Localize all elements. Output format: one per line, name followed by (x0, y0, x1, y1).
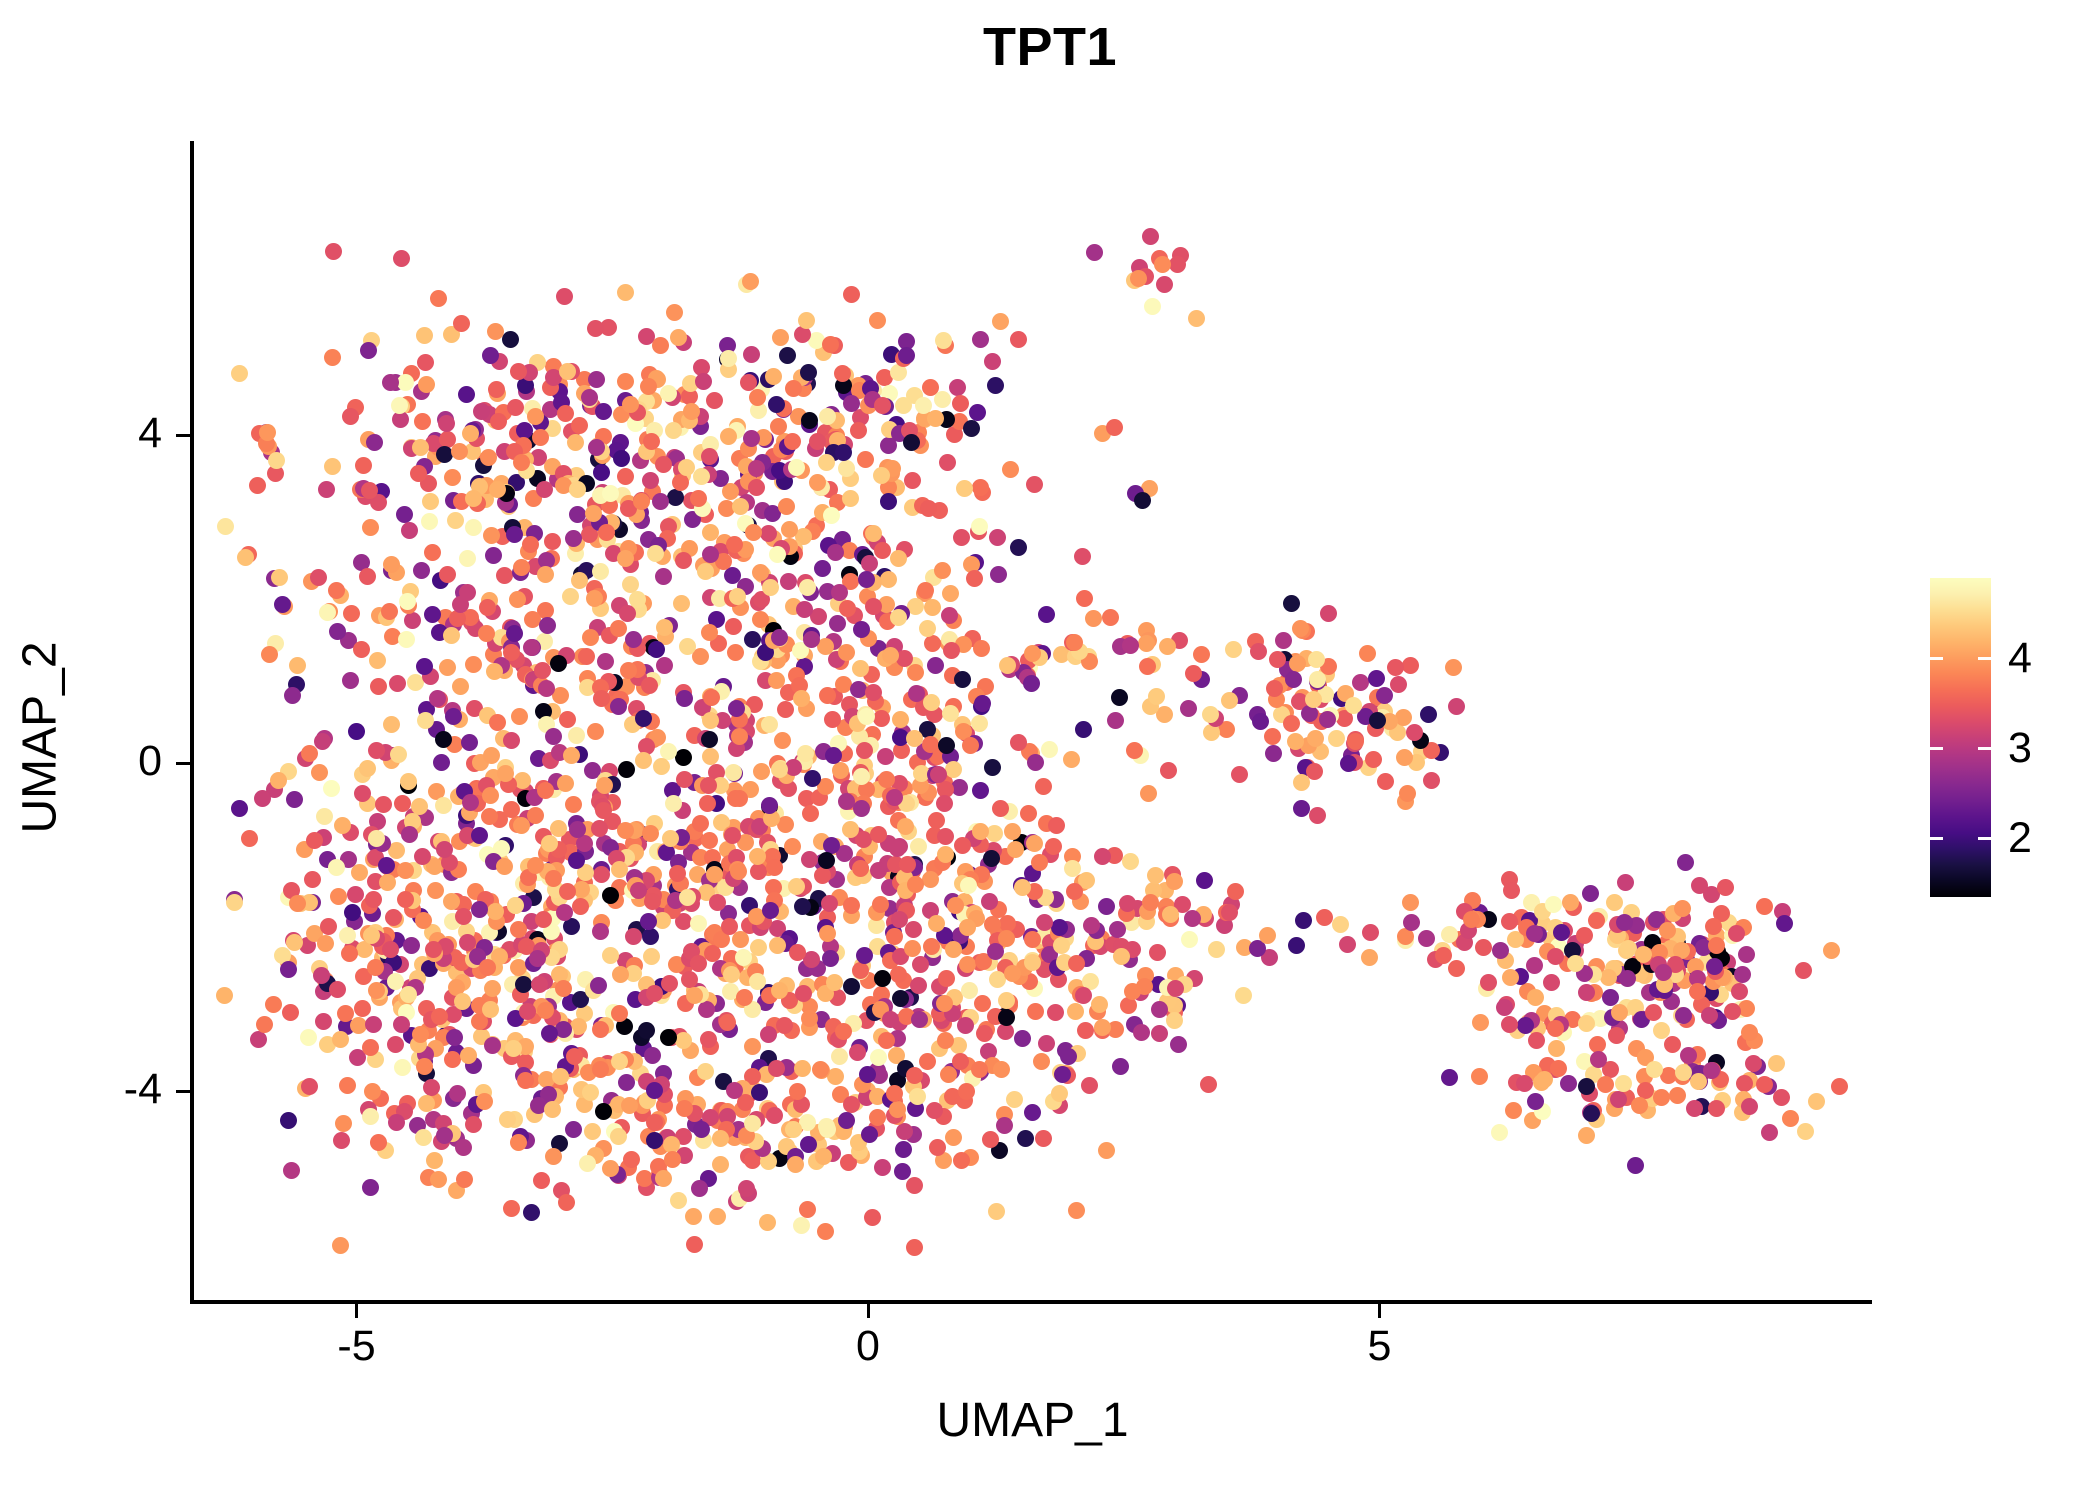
scatter-point (324, 349, 341, 366)
scatter-point (301, 745, 318, 762)
scatter-point (539, 617, 556, 634)
scatter-point (354, 1000, 371, 1017)
scatter-point (906, 1067, 923, 1084)
scatter-point (1221, 904, 1238, 921)
scatter-point (906, 730, 923, 747)
scatter-point (670, 329, 687, 346)
scatter-point (1283, 595, 1300, 612)
scatter-point (861, 555, 878, 572)
scatter-point (910, 977, 927, 994)
scatter-point (960, 877, 977, 894)
scatter-point (990, 566, 1007, 583)
scatter-point (1014, 1030, 1031, 1047)
scatter-point (259, 424, 276, 441)
scatter-point (462, 794, 479, 811)
scatter-point (1664, 1036, 1681, 1053)
scatter-point (638, 1022, 655, 1039)
scatter-point (559, 363, 576, 380)
scatter-point (942, 705, 959, 722)
scatter-point (652, 337, 669, 354)
scatter-point (1200, 1076, 1217, 1093)
scatter-point (998, 930, 1015, 947)
scatter-point (1717, 879, 1734, 896)
scatter-point (503, 1200, 520, 1217)
scatter-point (823, 507, 840, 524)
scatter-point (1147, 867, 1164, 884)
scatter-point (1151, 1001, 1168, 1018)
scatter-point (765, 368, 782, 385)
scatter-point (974, 995, 991, 1012)
scatter-point (354, 785, 371, 802)
scatter-point (537, 566, 554, 583)
scatter-point (1225, 641, 1242, 658)
scatter-point (789, 1083, 806, 1100)
scatter-point (347, 886, 364, 903)
scatter-point (917, 582, 934, 599)
scatter-point (510, 363, 527, 380)
scatter-point (843, 897, 860, 914)
scatter-point (280, 1112, 297, 1129)
scatter-point (362, 1039, 379, 1056)
scatter-point (566, 1048, 583, 1065)
scatter-point (283, 1162, 300, 1179)
scatter-point (720, 428, 737, 445)
scatter-point (942, 585, 959, 602)
scatter-point (557, 405, 574, 422)
scatter-point (381, 603, 398, 620)
scatter-point (1615, 1075, 1632, 1092)
scatter-point (1582, 885, 1599, 902)
scatter-point (1265, 745, 1282, 762)
scatter-point (1111, 689, 1128, 706)
scatter-point (390, 746, 407, 763)
scatter-point (938, 737, 955, 754)
scatter-point (397, 374, 414, 391)
scatter-point (315, 1013, 332, 1030)
scatter-point (436, 1127, 453, 1144)
scatter-point (667, 489, 684, 506)
scatter-point (752, 564, 769, 581)
scatter-point (760, 525, 777, 542)
scatter-point (1066, 883, 1083, 900)
scatter-point (1547, 1020, 1564, 1037)
scatter-point (922, 871, 939, 888)
scatter-point (732, 931, 749, 948)
scatter-point (653, 758, 670, 775)
scatter-point (578, 648, 595, 665)
scatter-point (1170, 1036, 1187, 1053)
scatter-point (1600, 969, 1617, 986)
scatter-point (613, 450, 630, 467)
scatter-point (998, 1009, 1015, 1026)
scatter-point (664, 1151, 681, 1168)
scatter-point (424, 544, 441, 561)
scatter-point (1517, 1017, 1534, 1034)
scatter-point (665, 795, 682, 812)
scatter-point (843, 1096, 860, 1113)
scatter-point (785, 1121, 802, 1138)
scatter-point (1472, 1014, 1489, 1031)
scatter-point (641, 677, 658, 694)
scatter-point (675, 552, 692, 569)
scatter-point (800, 364, 817, 381)
scatter-point (1502, 969, 1519, 986)
scatter-point (941, 607, 958, 624)
scatter-point (527, 807, 544, 824)
scatter-point (772, 329, 789, 346)
scatter-point (1188, 310, 1205, 327)
scatter-point (510, 959, 527, 976)
scatter-point (1166, 1012, 1183, 1029)
scatter-point (587, 320, 604, 337)
scatter-point (842, 821, 859, 838)
scatter-point (744, 1038, 761, 1055)
scatter-point (527, 408, 544, 425)
scatter-point (939, 454, 956, 471)
scatter-point (324, 458, 341, 475)
scatter-point (571, 417, 588, 434)
scatter-point (972, 782, 989, 799)
scatter-point (1631, 1097, 1648, 1114)
scatter-point (595, 802, 612, 819)
scatter-point (625, 631, 642, 648)
scatter-point (1124, 983, 1141, 1000)
scatter-point (812, 1061, 829, 1078)
scatter-point (231, 800, 248, 817)
scatter-point (592, 1021, 609, 1038)
scatter-point (1138, 635, 1155, 652)
scatter-point (935, 332, 952, 349)
scatter-point (924, 599, 941, 616)
scatter-point (1167, 980, 1184, 997)
scatter-point (701, 832, 718, 849)
scatter-point (328, 859, 345, 876)
scatter-point (369, 652, 386, 669)
scatter-point (1617, 874, 1634, 891)
scatter-point (438, 415, 455, 432)
colorbar-legend: 432 (1930, 578, 2090, 898)
scatter-point (620, 662, 637, 679)
scatter-point (1293, 774, 1310, 791)
scatter-point (937, 846, 954, 863)
scatter-point (394, 1059, 411, 1076)
scatter-point (569, 481, 586, 498)
scatter-point (966, 570, 983, 587)
scatter-point (568, 727, 585, 744)
scatter-point (1608, 1027, 1625, 1044)
scatter-point (435, 797, 452, 814)
scatter-point (1516, 1075, 1533, 1092)
scatter-point (483, 527, 500, 544)
scatter-point (541, 1025, 558, 1042)
scatter-point (656, 657, 673, 674)
scatter-point (838, 1112, 855, 1129)
scatter-point (1435, 947, 1452, 964)
scatter-point (332, 1237, 349, 1254)
scatter-point (602, 485, 619, 502)
scatter-point (744, 1115, 761, 1132)
scatter-point (853, 800, 870, 817)
scatter-point (801, 851, 818, 868)
scatter-point (1060, 1048, 1077, 1065)
scatter-point (695, 373, 712, 390)
scatter-point (557, 775, 574, 792)
scatter-point (856, 742, 873, 759)
scatter-point (532, 429, 549, 446)
scatter-point (818, 454, 835, 471)
scatter-point (911, 1011, 928, 1028)
scatter-point (897, 818, 914, 835)
scatter-point (412, 1026, 429, 1043)
scatter-point (323, 780, 340, 797)
scatter-point (400, 986, 417, 1003)
scatter-point (788, 459, 805, 476)
scatter-point (1611, 1004, 1628, 1021)
scatter-point (1441, 926, 1458, 943)
scatter-point (702, 748, 719, 765)
scatter-point (286, 791, 303, 808)
scatter-point (761, 797, 778, 814)
scatter-point (325, 243, 342, 260)
scatter-point (418, 1095, 435, 1112)
scatter-point (1578, 984, 1595, 1001)
scatter-point (523, 1204, 540, 1221)
scatter-point (981, 893, 998, 910)
scatter-point (598, 524, 615, 541)
scatter-point (972, 331, 989, 348)
scatter-point (1066, 634, 1083, 651)
scatter-point (721, 918, 738, 935)
scatter-point (310, 569, 327, 586)
scatter-point (329, 623, 346, 640)
scatter-point (1035, 778, 1052, 795)
scatter-point (874, 970, 891, 987)
scatter-point (1548, 1040, 1565, 1057)
scatter-point (835, 1023, 852, 1040)
scatter-point (685, 1208, 702, 1225)
scatter-point (503, 644, 520, 661)
scatter-point (784, 838, 801, 855)
scatter-point (971, 518, 988, 535)
scatter-point (927, 657, 944, 674)
scatter-point (1264, 728, 1281, 745)
scatter-point (1307, 730, 1324, 747)
scatter-point (427, 882, 444, 899)
scatter-point (880, 493, 897, 510)
scatter-point (455, 1139, 472, 1156)
scatter-point (1024, 1104, 1041, 1121)
scatter-point (890, 550, 907, 567)
scatter-point (592, 1061, 609, 1078)
scatter-point (1075, 987, 1092, 1004)
scatter-point (1606, 894, 1623, 911)
scatter-point (1686, 1100, 1703, 1117)
scatter-point (676, 690, 693, 707)
scatter-point (415, 1129, 432, 1146)
scatter-point (617, 284, 634, 301)
scatter-point (398, 631, 415, 648)
y-tick-mark (176, 1090, 190, 1093)
scatter-point (1169, 256, 1186, 273)
scatter-point (635, 752, 652, 769)
scatter-point (465, 519, 482, 536)
scatter-point (270, 772, 287, 789)
scatter-point (1017, 1130, 1034, 1147)
scatter-point (856, 947, 873, 964)
scatter-point (1376, 687, 1393, 704)
scatter-point (874, 397, 891, 414)
scatter-point (700, 777, 717, 794)
scatter-point (1287, 733, 1304, 750)
scatter-point (635, 710, 652, 727)
scatter-point (724, 827, 741, 844)
scatter-point (762, 579, 779, 596)
scatter-point (672, 474, 689, 491)
scatter-point (1134, 492, 1151, 509)
scatter-point (527, 857, 544, 874)
scatter-point (537, 1002, 554, 1019)
scatter-point (430, 1171, 447, 1188)
scatter-point (703, 689, 720, 706)
scatter-point (889, 840, 906, 857)
scatter-point (761, 716, 778, 733)
scatter-point (1221, 692, 1238, 709)
scatter-point (930, 766, 947, 783)
scatter-point (1369, 712, 1386, 729)
scatter-point (579, 1155, 596, 1172)
scatter-point (592, 563, 609, 580)
scatter-point (788, 878, 805, 895)
scatter-point (593, 866, 610, 883)
scatter-point (483, 747, 500, 764)
scatter-point (383, 556, 400, 573)
scatter-point (750, 939, 767, 956)
scatter-point (644, 893, 661, 910)
scatter-point (559, 883, 576, 900)
scatter-point (701, 448, 718, 465)
scatter-point (777, 701, 794, 718)
scatter-point (1235, 987, 1252, 1004)
scatter-point (1026, 476, 1043, 493)
scatter-point (1140, 785, 1157, 802)
figure-root: TPT1 -505 40-4 UMAP_1 UMAP_2 432 (0, 0, 2100, 1500)
scatter-point (729, 588, 746, 605)
scatter-point (311, 764, 328, 781)
scatter-point (1160, 762, 1177, 779)
scatter-point (1122, 637, 1139, 654)
scatter-point (353, 641, 370, 658)
scatter-point (254, 790, 271, 807)
scatter-point (1094, 848, 1111, 865)
scatter-point (1706, 958, 1723, 975)
scatter-point (479, 959, 496, 976)
scatter-point (630, 882, 647, 899)
scatter-point (989, 529, 1006, 546)
scatter-point (531, 976, 548, 993)
scatter-point (473, 403, 490, 420)
scatter-point (567, 434, 584, 451)
scatter-point (824, 711, 841, 728)
scatter-point (1196, 872, 1213, 889)
scatter-point (676, 771, 693, 788)
scatter-point (850, 681, 867, 698)
scatter-point (1231, 766, 1248, 783)
scatter-point (1144, 298, 1161, 315)
scatter-point (719, 1014, 736, 1031)
x-tick-label: 5 (1300, 1324, 1460, 1369)
scatter-point (361, 482, 378, 499)
scatter-point (1010, 539, 1027, 556)
scatter-point (988, 1203, 1005, 1220)
scatter-point (595, 403, 612, 420)
scatter-point (1077, 1022, 1094, 1039)
scatter-point (250, 1031, 267, 1048)
scatter-point (766, 1107, 783, 1124)
scatter-point (370, 678, 387, 695)
scatter-point (480, 449, 497, 466)
colorbar-tick-mark (1978, 657, 1991, 660)
scatter-point (698, 1001, 715, 1018)
scatter-point (839, 600, 856, 617)
scatter-point (972, 479, 989, 496)
scatter-point (391, 397, 408, 414)
scatter-point (1159, 638, 1176, 655)
scatter-point (595, 1103, 612, 1120)
scatter-point (982, 1131, 999, 1148)
scatter-point (399, 593, 416, 610)
scatter-point (465, 1116, 482, 1133)
scatter-point (571, 572, 588, 589)
scatter-point (365, 1016, 382, 1033)
scatter-point (597, 653, 614, 670)
scatter-point (534, 662, 551, 679)
scatter-point (365, 891, 382, 908)
scatter-point (814, 560, 831, 577)
scatter-point (1543, 974, 1560, 991)
scatter-point (1063, 751, 1080, 768)
scatter-point (562, 588, 579, 605)
scatter-point (864, 1209, 881, 1226)
scatter-point (618, 761, 635, 778)
scatter-point (333, 1132, 350, 1149)
scatter-point (798, 312, 815, 329)
scatter-point (1252, 713, 1269, 730)
scatter-point (1368, 670, 1385, 687)
scatter-point (397, 891, 414, 908)
scatter-point (701, 624, 718, 641)
scatter-point (849, 1044, 866, 1061)
scatter-point (1122, 853, 1139, 870)
scatter-point (1708, 937, 1725, 954)
scatter-point (1007, 841, 1024, 858)
scatter-point (545, 728, 562, 745)
scatter-point (697, 1063, 714, 1080)
scatter-point (697, 563, 714, 580)
scatter-point (643, 433, 660, 450)
scatter-point (306, 832, 323, 849)
scatter-point (727, 644, 744, 661)
scatter-point (675, 749, 692, 766)
scatter-point (796, 601, 813, 618)
scatter-point (412, 439, 429, 456)
scatter-point (1761, 1124, 1778, 1141)
scatter-point (1076, 590, 1093, 607)
scatter-point (801, 412, 818, 429)
scatter-point (515, 976, 532, 993)
scatter-point (652, 493, 669, 510)
scatter-point (1527, 989, 1544, 1006)
y-axis-line (190, 141, 194, 1304)
